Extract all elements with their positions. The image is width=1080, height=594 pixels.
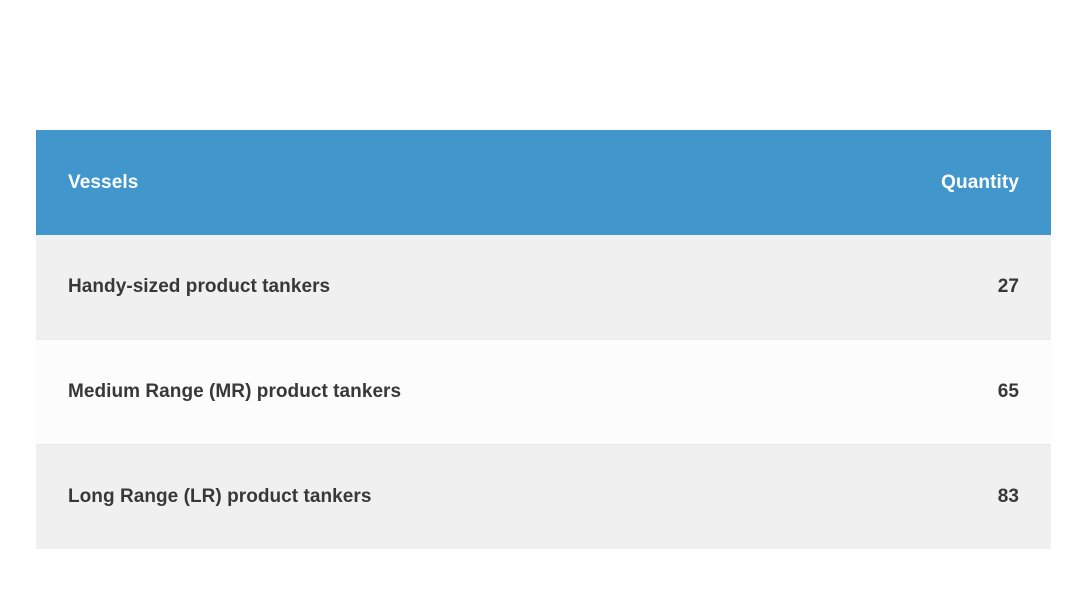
vessel-name-cell: Long Range (LR) product tankers [36, 445, 544, 550]
column-header-vessels[interactable]: Vessels [36, 130, 544, 235]
vessel-name-cell: Medium Range (MR) product tankers [36, 340, 544, 445]
table-row: Medium Range (MR) product tankers 65 [36, 340, 1051, 445]
vessel-name-cell: Handy-sized product tankers [36, 235, 544, 340]
table-row: Handy-sized product tankers 27 [36, 235, 1051, 340]
vessel-table-container: Vessels Quantity Handy-sized product tan… [36, 130, 1051, 549]
table-row: Long Range (LR) product tankers 83 [36, 445, 1051, 550]
table-body: Handy-sized product tankers 27 Medium Ra… [36, 235, 1051, 549]
table-header-row: Vessels Quantity [36, 130, 1051, 235]
table-header: Vessels Quantity [36, 130, 1051, 235]
page-root: Vessels Quantity Handy-sized product tan… [0, 0, 1080, 594]
column-header-quantity[interactable]: Quantity [544, 130, 1052, 235]
vessel-quantity-table: Vessels Quantity Handy-sized product tan… [36, 130, 1051, 549]
vessel-quantity-cell: 27 [544, 235, 1052, 340]
vessel-quantity-cell: 83 [544, 445, 1052, 550]
vessel-quantity-cell: 65 [544, 340, 1052, 445]
